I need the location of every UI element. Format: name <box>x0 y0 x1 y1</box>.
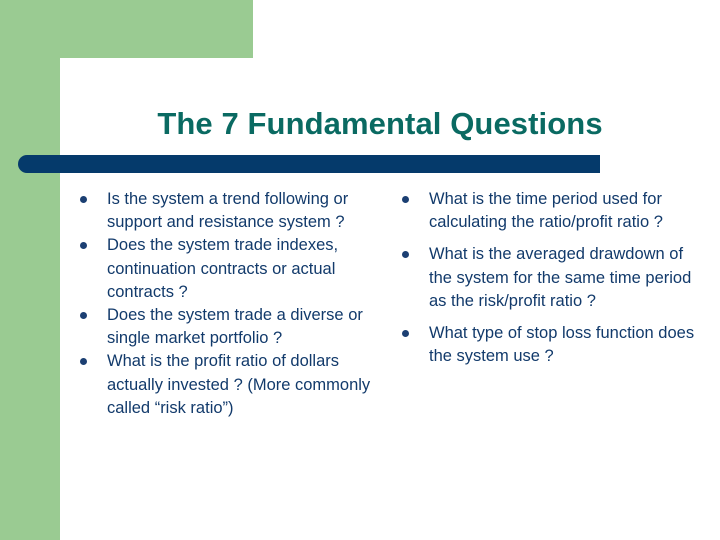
bullet-list-right: What is the time period used for calcula… <box>396 188 696 368</box>
list-item: Does the system trade a diverse or singl… <box>74 304 392 350</box>
list-item: What is the time period used for calcula… <box>396 188 696 234</box>
bullet-dot-icon <box>402 330 409 337</box>
page-title: The 7 Fundamental Questions <box>60 105 700 143</box>
bullet-dot-icon <box>80 358 87 365</box>
list-item-label: What is the averaged drawdown of the sys… <box>429 243 696 313</box>
list-item: Does the system trade indexes, continuat… <box>74 234 392 304</box>
bullet-dot-icon <box>80 312 87 319</box>
bullet-dot-icon <box>402 251 409 258</box>
slide-canvas: The 7 Fundamental Questions Is the syste… <box>0 0 720 540</box>
list-item: What is the averaged drawdown of the sys… <box>396 243 696 313</box>
bullet-column-left: Is the system a trend following or suppo… <box>74 188 392 420</box>
list-item-label: What type of stop loss function does the… <box>429 322 696 368</box>
list-item: What is the profit ratio of dollars actu… <box>74 350 392 420</box>
list-item-label: Is the system a trend following or suppo… <box>107 188 392 234</box>
list-item-label: Does the system trade a diverse or singl… <box>107 304 392 350</box>
green-left-band-decoration <box>0 0 60 540</box>
list-item: Is the system a trend following or suppo… <box>74 188 392 234</box>
title-underline-bar <box>18 155 600 173</box>
bullet-list-left: Is the system a trend following or suppo… <box>74 188 392 420</box>
list-item-label: What is the profit ratio of dollars actu… <box>107 350 392 420</box>
bullet-dot-icon <box>402 196 409 203</box>
bullet-dot-icon <box>80 242 87 249</box>
list-item-label: What is the time period used for calcula… <box>429 188 696 234</box>
bullet-dot-icon <box>80 196 87 203</box>
list-item-label: Does the system trade indexes, continuat… <box>107 234 392 304</box>
bullet-column-right: What is the time period used for calcula… <box>396 188 696 368</box>
list-item: What type of stop loss function does the… <box>396 322 696 368</box>
